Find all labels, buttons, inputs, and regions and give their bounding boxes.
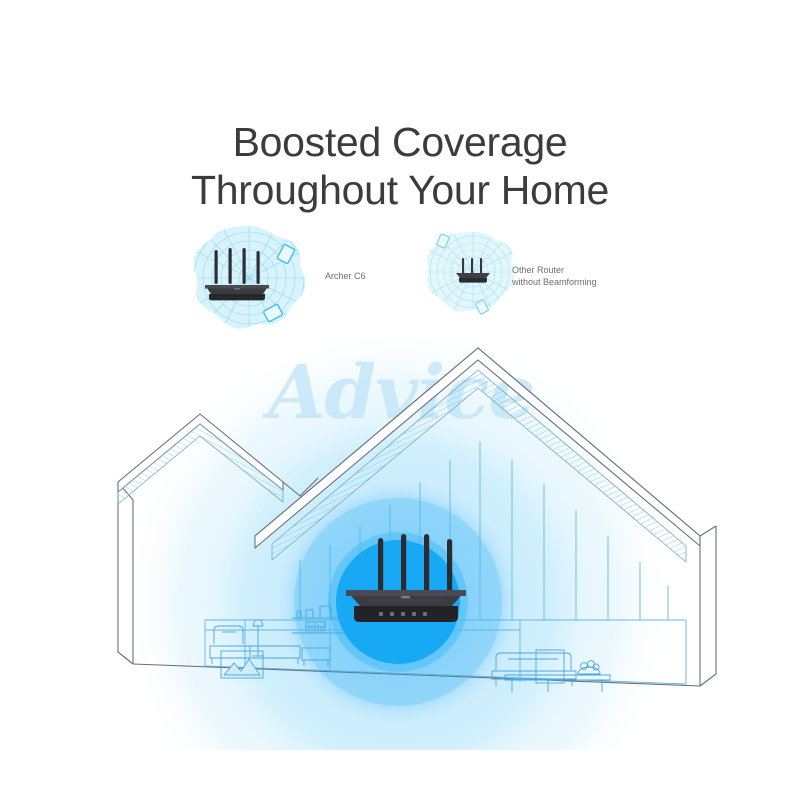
comparison-item-archer-c6: Archer C6 (185, 222, 415, 342)
illustration-canvas: Boosted Coverage Throughout Your Home (0, 0, 800, 800)
page-title-line2: Throughout Your Home (0, 166, 800, 214)
comparison-label-other-router: Other Router without Beamforming (512, 264, 597, 288)
coverage-comparison: Archer C6 (0, 222, 800, 342)
page-title: Boosted Coverage Throughout Your Home (0, 118, 800, 214)
comparison-item-other-router: Other Router without Beamforming (420, 222, 670, 342)
archer-c6-coverage-diagram (185, 222, 315, 342)
comparison-label-archer-c6: Archer C6 (325, 270, 366, 282)
page-title-line1: Boosted Coverage (233, 119, 568, 165)
main-router-group (0, 330, 800, 750)
house-scene: Advice (0, 330, 800, 750)
